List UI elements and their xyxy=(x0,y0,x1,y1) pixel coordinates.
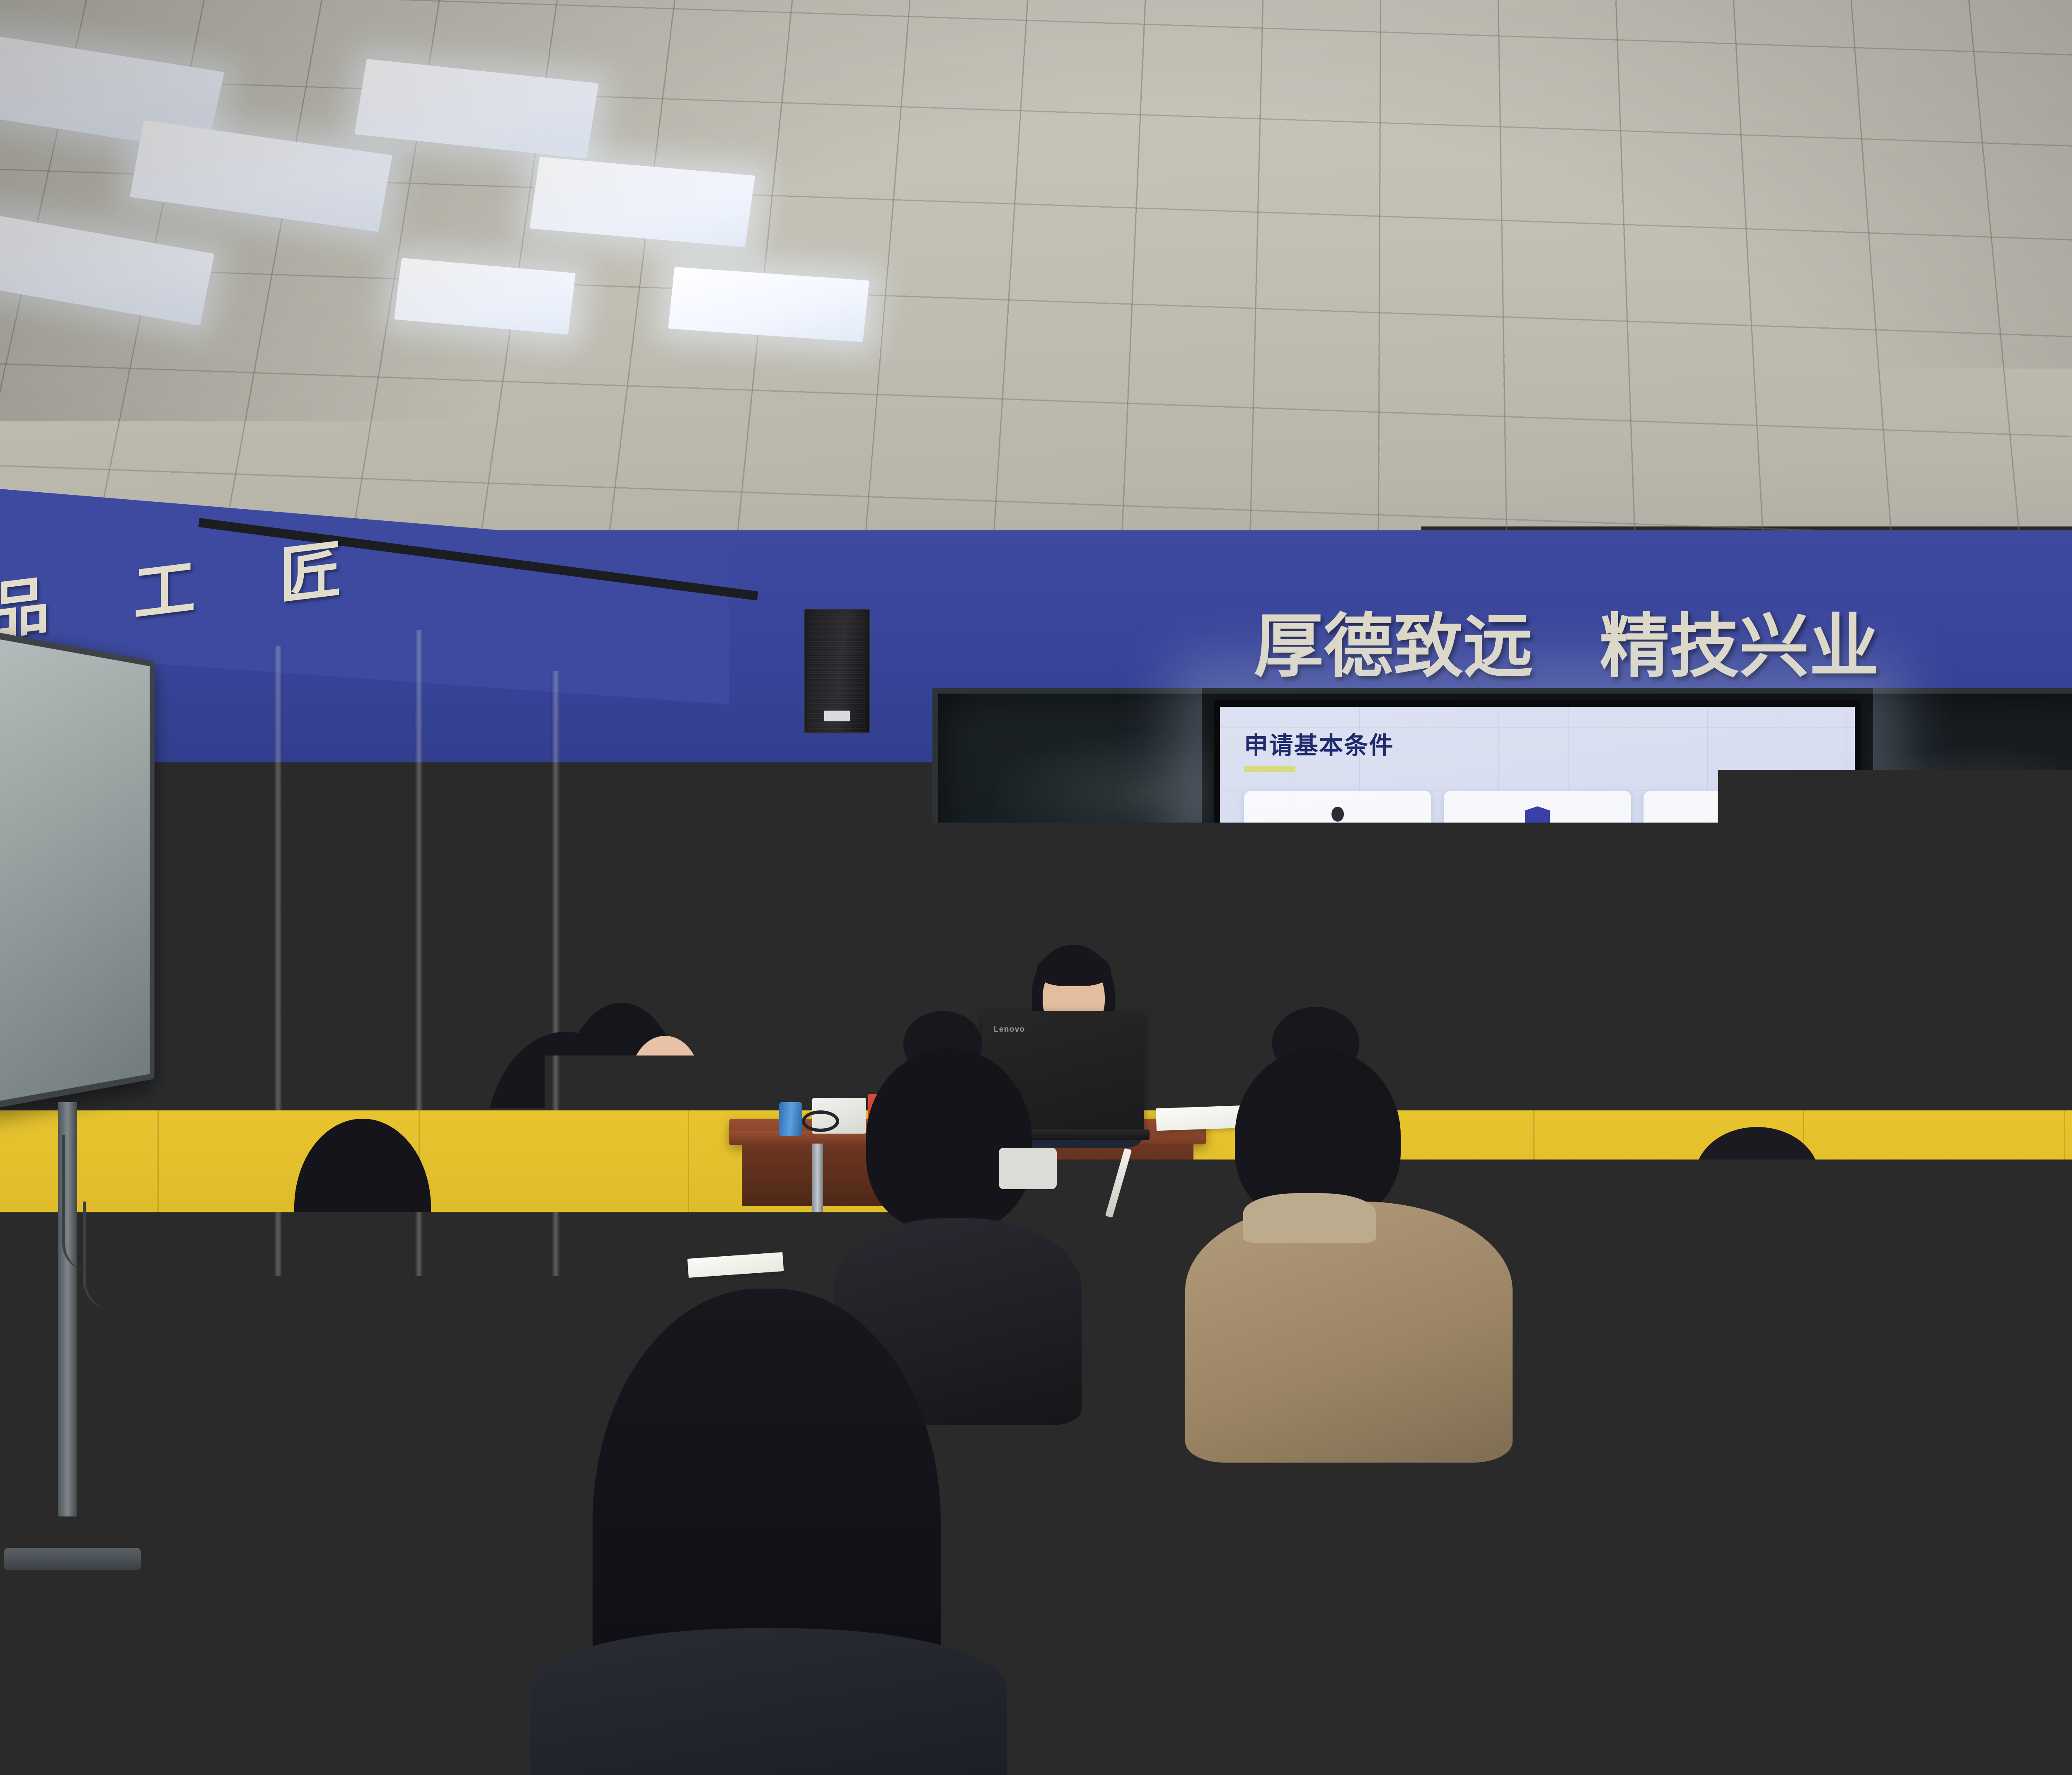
banner-phrase-1: 厚德致远 xyxy=(1254,590,1533,691)
trench-collar xyxy=(1243,1193,1376,1243)
card-bullet: ❖中国公民，未达到国家法定退休年龄。 xyxy=(1253,881,1422,894)
card-title: 身份条件 xyxy=(1253,846,1422,866)
banner-phrase-2: 精技兴业 xyxy=(1600,590,1879,691)
desk-item-bottle xyxy=(779,1102,802,1136)
light-wire xyxy=(1798,211,1800,290)
bullet-diamond-icon: ❖ xyxy=(1653,912,1661,938)
classroom-scene: 品 工 匠 厚德致远 精技兴业 ı∪ 申请基本条件 xyxy=(0,0,2072,1775)
attendee-body xyxy=(1558,1417,2014,1775)
presentation-slide: 申请基本条件 身份条件 xyxy=(1220,707,1855,1042)
cable xyxy=(83,1202,133,1309)
power-outlet[interactable] xyxy=(1515,1165,1553,1205)
chalk-smudge xyxy=(1850,743,2072,859)
bullet-diamond-icon: ❖ xyxy=(1253,881,1261,894)
slide-card-identity: 身份条件 ❖中国公民，未达到国家法定退休年龄。 ❖在职在岗教学人员（专任教师或专… xyxy=(1244,791,1431,979)
light-wire xyxy=(2055,157,2057,236)
bullet-diamond-icon: ❖ xyxy=(1453,912,1461,938)
slide-title: 申请基本条件 xyxy=(1244,726,1831,761)
speaker-label xyxy=(824,711,850,721)
attendee-head xyxy=(630,1036,700,1127)
bullet-diamond-icon: ❖ xyxy=(1453,881,1461,907)
bullet-diamond-icon: ❖ xyxy=(1653,881,1661,907)
attendee-foreground-long-hair xyxy=(497,1289,1036,1775)
coat-pocket-flap xyxy=(1807,1554,1944,1599)
hex-light-inner xyxy=(1434,290,1633,359)
card-bullet: ❖热爱教育事业，遵守师德规范，无违法犯罪记录。 xyxy=(1453,912,1622,938)
card-title: 思想品德条件 xyxy=(1453,846,1622,866)
card-bullet: ❖港澳台或国外学历需提供教育部留学服务中心认证书。 xyxy=(1653,912,1822,938)
hex-pendant-light-black xyxy=(1898,232,2072,398)
attendee-olive-coat xyxy=(1558,1127,2014,1775)
light-wire xyxy=(1533,157,1535,236)
card-bullet: ❖在职在岗教学人员（专任教师或专职辅导员），系统讲授一门以上课程。 xyxy=(1253,898,1422,925)
display-side-button[interactable] xyxy=(1207,907,1218,930)
slide-card-morality: 思想品德条件 ❖拥护中国共产党领导，全面贯彻党的教育方针。 ❖热爱教育事业，遵守… xyxy=(1444,791,1631,979)
slide-cards: 身份条件 ❖中国公民，未达到国家法定退休年龄。 ❖在职在岗教学人员（专任教师或专… xyxy=(1244,791,1831,979)
attendee-hair xyxy=(1645,1181,1877,1438)
card-bullet: ❖具备《教师法》规定的国民教育系列本科及以上学历。 xyxy=(1653,881,1822,907)
face-mask-icon xyxy=(999,1148,1057,1189)
mobile-display-panel[interactable] xyxy=(0,630,155,1110)
wall-speaker-left xyxy=(804,609,870,733)
card-tip-label: 温馨提示： xyxy=(1253,930,1299,941)
attendee-hair xyxy=(866,1048,1032,1231)
slide-title-underline xyxy=(1244,766,1295,772)
card-tip: 温馨提示：岗培-返岗教研-能力测试-教资认定，上一流程完成后才能开展后续工作。 xyxy=(1253,929,1422,969)
graduation-cap-icon xyxy=(1653,805,1822,839)
person-icon xyxy=(1253,805,1422,839)
smoke-detector-icon xyxy=(1782,493,1822,529)
hair-tie xyxy=(322,1284,375,1303)
table-leg xyxy=(1119,1616,1126,1773)
table-leg xyxy=(1368,1641,1376,1775)
stand-foot xyxy=(4,1548,141,1570)
light-switch-panel[interactable] xyxy=(858,941,916,966)
shield-icon xyxy=(1453,805,1622,839)
slide-card-education: 学历条件 ❖具备《教师法》规定的国民教育系列本科及以上学历。 ❖港澳台或国外学历… xyxy=(1644,791,1831,979)
display-side-button[interactable] xyxy=(1207,941,1218,963)
attendee-body xyxy=(530,1628,1007,1775)
card-bullet: ❖拥护中国共产党领导，全面贯彻党的教育方针。 xyxy=(1453,881,1622,907)
display-glass xyxy=(0,638,150,1103)
power-outlet[interactable] xyxy=(796,912,834,951)
wall-banner: 厚德致远 精技兴业 xyxy=(1019,592,2072,688)
table-leg xyxy=(394,1641,402,1775)
hex-light-inner xyxy=(1706,339,1890,404)
presenter-fringe xyxy=(1037,952,1111,986)
card-title: 学历条件 xyxy=(1653,846,1822,866)
bullet-diamond-icon: ❖ xyxy=(1253,898,1261,925)
